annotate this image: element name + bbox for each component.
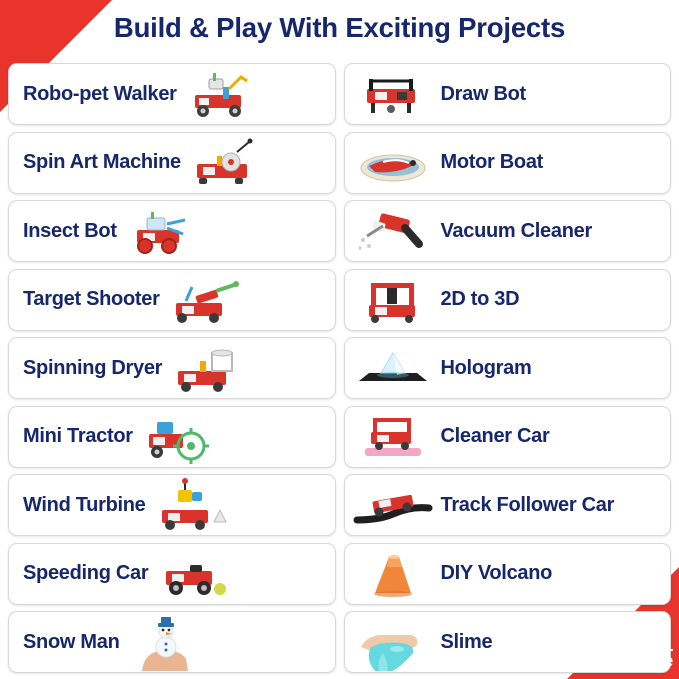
product-feature-graphic: Build & Play With Exciting Projects Robo… — [0, 0, 679, 679]
project-label: Hologram — [441, 357, 532, 380]
project-label: Draw Bot — [441, 83, 526, 106]
header: Build & Play With Exciting Projects — [0, 0, 679, 56]
project-card-wind-turbine[interactable]: Wind Turbine — [8, 474, 336, 536]
2d-to-3d-icon — [353, 271, 433, 329]
project-label: Mini Tractor — [23, 425, 133, 448]
project-label: Motor Boat — [441, 151, 544, 174]
project-label: DIY Volcano — [441, 562, 553, 585]
diy-volcano-icon — [353, 545, 433, 603]
cleaner-car-icon — [353, 408, 433, 466]
project-card-snow-man[interactable]: Snow Man — [8, 611, 336, 673]
project-card-2d-to-3d[interactable]: 2D to 3D — [344, 269, 672, 331]
project-label: Track Follower Car — [441, 494, 615, 517]
project-card-spin-art-machine[interactable]: Spin Art Machine — [8, 132, 336, 194]
project-label: Robo-pet Walker — [23, 83, 177, 106]
project-label: Snow Man — [23, 631, 120, 654]
project-card-speeding-car[interactable]: Speeding Car — [8, 543, 336, 605]
many-more-label: & Many More — [579, 653, 673, 671]
project-label: Cleaner Car — [441, 425, 550, 448]
project-card-diy-volcano[interactable]: DIY Volcano — [344, 543, 672, 605]
project-card-track-follower-car[interactable]: Track Follower Car — [344, 474, 672, 536]
spinning-dryer-icon — [168, 339, 248, 397]
page-title: Build & Play With Exciting Projects — [114, 12, 565, 44]
mini-tractor-icon — [139, 408, 219, 466]
projects-grid: Robo-pet Walker — [8, 60, 671, 677]
project-label: Vacuum Cleaner — [441, 220, 592, 243]
project-label: Target Shooter — [23, 288, 160, 311]
project-card-draw-bot[interactable]: Draw Bot — [344, 63, 672, 125]
vacuum-cleaner-icon — [353, 202, 433, 260]
project-card-vacuum-cleaner[interactable]: Vacuum Cleaner — [344, 200, 672, 262]
project-card-spinning-dryer[interactable]: Spinning Dryer — [8, 337, 336, 399]
project-label: Slime — [441, 631, 493, 654]
project-label: Insect Bot — [23, 220, 117, 243]
project-card-motor-boat[interactable]: Motor Boat — [344, 132, 672, 194]
robo-pet-walker-icon — [183, 65, 263, 123]
project-label: Wind Turbine — [23, 494, 146, 517]
hologram-icon — [353, 339, 433, 397]
project-card-target-shooter[interactable]: Target Shooter — [8, 269, 336, 331]
slime-icon — [353, 613, 433, 671]
project-card-hologram[interactable]: Hologram — [344, 337, 672, 399]
draw-bot-icon — [353, 65, 433, 123]
project-card-insect-bot[interactable]: Insect Bot — [8, 200, 336, 262]
spin-art-machine-icon — [187, 134, 267, 192]
track-follower-car-icon — [353, 476, 433, 534]
project-label: Speeding Car — [23, 562, 148, 585]
motor-boat-icon — [353, 134, 433, 192]
project-label: Spinning Dryer — [23, 357, 162, 380]
insect-bot-icon — [123, 202, 203, 260]
target-shooter-icon — [166, 271, 246, 329]
project-card-mini-tractor[interactable]: Mini Tractor — [8, 406, 336, 468]
project-card-cleaner-car[interactable]: Cleaner Car — [344, 406, 672, 468]
wind-turbine-icon — [152, 476, 232, 534]
speeding-car-icon — [154, 545, 234, 603]
project-label: 2D to 3D — [441, 288, 520, 311]
project-label: Spin Art Machine — [23, 151, 181, 174]
footer-divider — [521, 649, 673, 651]
snow-man-icon — [126, 613, 206, 671]
project-card-robo-pet-walker[interactable]: Robo-pet Walker — [8, 63, 336, 125]
